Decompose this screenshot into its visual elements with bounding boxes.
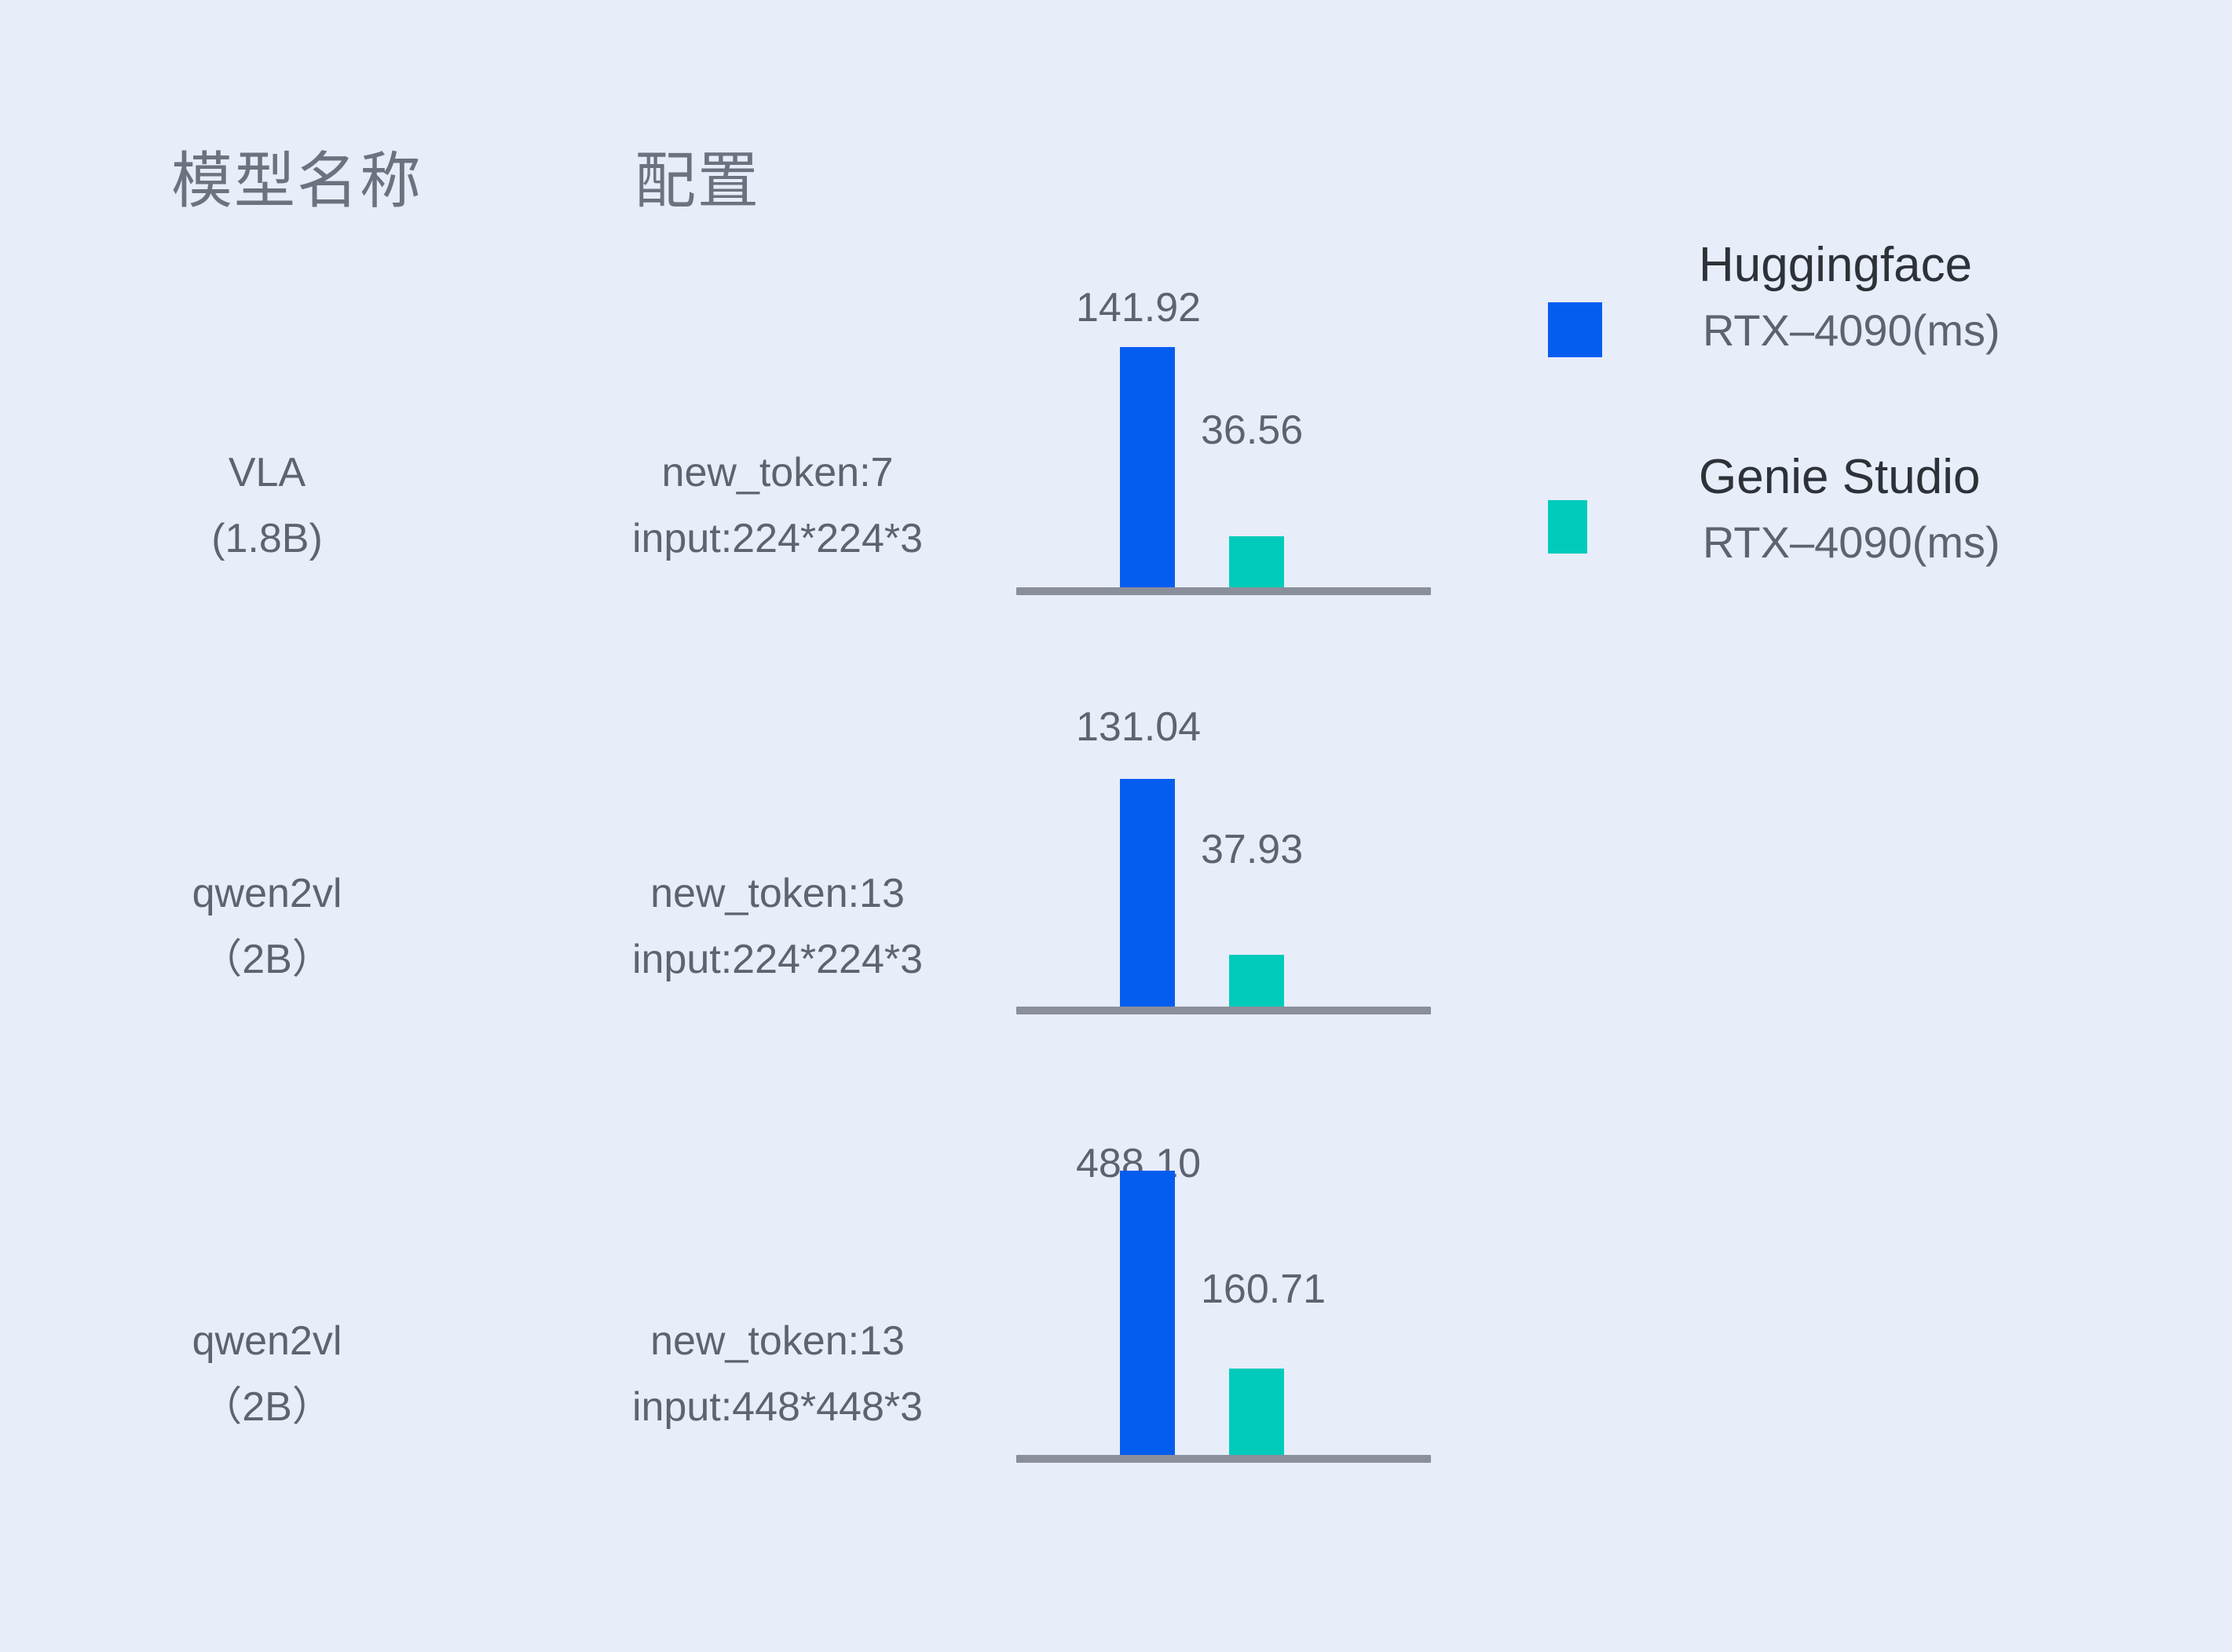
bar-genie-studio	[1229, 1369, 1284, 1455]
baseline-axis	[1016, 1455, 1431, 1463]
model-name-line-1: qwen2vl	[141, 1308, 393, 1374]
legend-swatch-blue-icon	[1548, 302, 1602, 357]
bar-plot: 141.92 36.56	[1016, 236, 1431, 605]
bar-value-genie-studio: 37.93	[1201, 826, 1303, 873]
legend-series-name: Genie Studio	[1699, 448, 2000, 507]
config-cell: new_token:7 input:224*224*3	[471, 440, 1084, 572]
bar-value-genie-studio: 160.71	[1201, 1266, 1326, 1313]
model-name-cell: VLA (1.8B)	[141, 440, 393, 572]
bar-value-huggingface: 131.04	[1076, 704, 1201, 751]
legend-item-genie-studio: Genie Studio RTX–4090(ms)	[1539, 448, 2136, 660]
model-name-line-1: VLA	[141, 440, 393, 506]
config-line-1: new_token:13	[471, 1308, 1084, 1374]
model-name-line-2: (1.8B)	[141, 506, 393, 572]
column-header-model-name: 模型名称	[171, 132, 423, 220]
config-cell: new_token:13 input:448*448*3	[471, 1308, 1084, 1440]
config-line-1: new_token:7	[471, 440, 1084, 506]
bar-plot: 131.04 37.93	[1016, 655, 1431, 1024]
legend-series-device: RTX–4090(ms)	[1703, 507, 2000, 578]
benchmark-chart-page: 模型名称 配置 VLA (1.8B) new_token:7 input:224…	[0, 0, 2232, 1652]
model-name-line-2: （2B）	[141, 1374, 393, 1440]
config-line-2: input:224*224*3	[471, 506, 1084, 572]
model-name-line-1: qwen2vl	[141, 861, 393, 927]
model-name-cell: qwen2vl （2B）	[141, 1308, 393, 1440]
model-name-cell: qwen2vl （2B）	[141, 861, 393, 992]
model-name-line-2: （2B）	[141, 927, 393, 992]
legend-swatch-teal-icon	[1548, 500, 1587, 554]
legend-item-huggingface: Huggingface RTX–4090(ms)	[1539, 236, 2136, 448]
legend-label-group: Huggingface RTX–4090(ms)	[1699, 236, 2000, 366]
bar-value-huggingface: 141.92	[1076, 284, 1201, 331]
legend-series-name: Huggingface	[1699, 236, 2000, 295]
legend-series-device: RTX–4090(ms)	[1703, 295, 2000, 366]
bar-plot: 488.10 160.71	[1016, 1091, 1431, 1472]
bar-genie-studio	[1229, 955, 1284, 1007]
config-line-2: input:224*224*3	[471, 927, 1084, 992]
config-line-1: new_token:13	[471, 861, 1084, 927]
bar-value-genie-studio: 36.56	[1201, 407, 1303, 454]
baseline-axis	[1016, 587, 1431, 595]
baseline-axis	[1016, 1007, 1431, 1014]
config-cell: new_token:13 input:224*224*3	[471, 861, 1084, 992]
column-header-config: 配置	[635, 132, 760, 220]
bar-huggingface	[1120, 347, 1175, 587]
legend-label-group: Genie Studio RTX–4090(ms)	[1699, 448, 2000, 578]
config-line-2: input:448*448*3	[471, 1374, 1084, 1440]
bar-huggingface	[1120, 1171, 1175, 1463]
bar-huggingface	[1120, 779, 1175, 1007]
chart-legend: Huggingface RTX–4090(ms) Genie Studio RT…	[1539, 236, 2136, 660]
bar-genie-studio	[1229, 536, 1284, 587]
